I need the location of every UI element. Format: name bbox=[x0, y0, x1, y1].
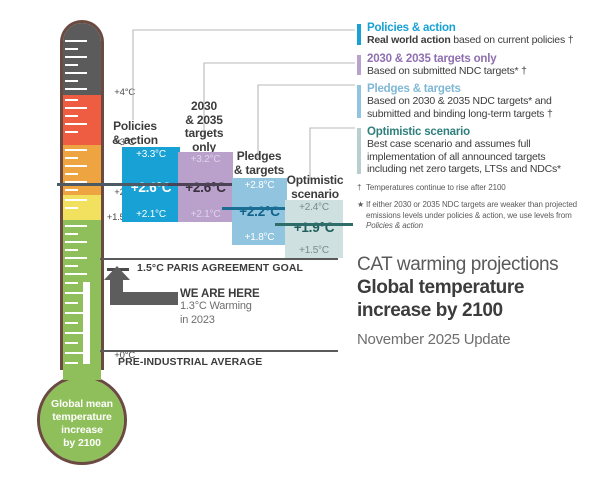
bulb-caption-line-3: increase bbox=[40, 424, 124, 437]
legend: Policies & action Real world action base… bbox=[357, 22, 595, 232]
bar-high-targets2030: +3.2°C bbox=[178, 154, 233, 165]
tick bbox=[65, 282, 78, 284]
footnote-dagger-marker: † bbox=[357, 183, 361, 194]
bulb-caption-line-1: Global mean bbox=[40, 398, 124, 411]
tick bbox=[65, 115, 78, 117]
bar-targets2030: +3.2°C +2.6°C +2.1°C bbox=[178, 152, 233, 222]
page-title-line3: increase by 2100 bbox=[357, 299, 597, 322]
pre-industrial-label: PRE-INDUSTRIAL AVERAGE bbox=[118, 356, 262, 368]
legend-title-policies: Policies & action bbox=[367, 22, 595, 34]
tick bbox=[65, 233, 78, 235]
tick bbox=[65, 332, 87, 334]
tick bbox=[65, 273, 87, 275]
bar-title-policies: Policies & action bbox=[108, 120, 162, 147]
tick bbox=[65, 257, 87, 259]
bar-title-optimistic: Optimistic scenario bbox=[281, 174, 349, 201]
tick bbox=[65, 157, 78, 159]
bulb-caption-line-2: temperature bbox=[40, 411, 124, 424]
legend-desc-rest: based on current policies † bbox=[451, 34, 574, 46]
we-are-here-heading: WE ARE HERE bbox=[180, 288, 260, 300]
tick bbox=[65, 249, 78, 251]
thermometer-neck-mask bbox=[63, 364, 101, 380]
tick bbox=[65, 322, 78, 324]
infographic-root: Global mean temperature increase by 2100… bbox=[0, 0, 600, 491]
bar-title-line: Policies bbox=[108, 120, 162, 134]
tick bbox=[65, 352, 87, 354]
footnote-star-text: If either 2030 or 2035 NDC targets are w… bbox=[366, 200, 577, 220]
bar-title-line: Pledges bbox=[229, 150, 289, 164]
footnote-dagger-text: Temperatures continue to rise after 2100 bbox=[366, 183, 506, 192]
bar-title-line: Optimistic bbox=[281, 174, 349, 188]
bar-high-policies: +3.3°C bbox=[122, 149, 180, 160]
title-block: CAT warming projections Global temperatu… bbox=[357, 253, 597, 348]
legend-desc-optimistic-line3: including net zero targets, LTSs and NDC… bbox=[367, 163, 595, 176]
pre-industrial-rule bbox=[100, 350, 338, 352]
legend-desc-pledges-line2: submitted and binding long-term targets … bbox=[367, 108, 595, 121]
tick bbox=[65, 225, 87, 227]
legend-swatch-pledges bbox=[357, 85, 361, 118]
legend-title-optimistic: Optimistic scenario bbox=[367, 126, 595, 138]
bar-title-line: scenario bbox=[281, 188, 349, 202]
footnote-star: ★If either 2030 or 2035 NDC targets are … bbox=[357, 200, 595, 232]
legend-desc-optimistic-line1: Best case scenario and assumes full bbox=[367, 138, 595, 151]
legend-desc-policies: Real world action based on current polic… bbox=[367, 34, 595, 47]
legend-desc-bold: Real world action bbox=[367, 34, 451, 46]
tick bbox=[65, 241, 87, 243]
footnote-star-marker: ★ bbox=[357, 200, 364, 211]
bar-title-line: 2030 bbox=[175, 100, 233, 114]
bar-high-optimistic: +2.4°C bbox=[285, 202, 343, 213]
tick bbox=[65, 199, 87, 201]
legend-title-pledges: Pledges & targets bbox=[367, 83, 595, 95]
tick bbox=[65, 72, 87, 74]
page-title-line1: CAT warming projections bbox=[357, 253, 597, 276]
tick bbox=[65, 123, 87, 125]
bar-title-pledges: Pledges & targets bbox=[229, 150, 289, 177]
legend-swatch-targets2030 bbox=[357, 55, 361, 76]
bar-title-targets2030: 2030 & 2035 targets only bbox=[175, 100, 233, 154]
bar-pledges: +2.8°C +2.2°C +1.8°C bbox=[232, 178, 287, 245]
we-are-here-arrowhead-icon bbox=[104, 266, 130, 282]
tick bbox=[65, 173, 78, 175]
tick bbox=[65, 88, 87, 90]
bar-midline-optimistic bbox=[275, 223, 353, 226]
footnote-dagger: †Temperatures continue to rise after 210… bbox=[357, 183, 595, 194]
tick bbox=[65, 165, 87, 167]
legend-swatch-policies bbox=[357, 24, 361, 45]
tick bbox=[65, 40, 87, 42]
footnote-star-italic: Policies & action bbox=[366, 221, 423, 230]
bar-low-optimistic: +1.5°C bbox=[285, 245, 343, 256]
mercury-column bbox=[83, 282, 90, 374]
bar-optimistic: +2.4°C +1.9°C +1.5°C bbox=[285, 200, 343, 258]
tick bbox=[65, 189, 78, 191]
tick bbox=[65, 342, 78, 344]
we-are-here-annotation: WE ARE HERE 1.3°C Warming in 2023 bbox=[180, 288, 260, 327]
tick bbox=[65, 80, 78, 82]
band-orange bbox=[63, 145, 101, 195]
bar-low-pledges: +1.8°C bbox=[232, 232, 287, 243]
page-title-line2: Global temperature bbox=[357, 276, 597, 299]
tick bbox=[65, 149, 87, 151]
bar-title-line: & action bbox=[108, 134, 162, 148]
band-grey bbox=[63, 23, 101, 95]
tick bbox=[65, 48, 78, 50]
paris-goal-rule bbox=[100, 258, 338, 260]
tick bbox=[65, 302, 78, 304]
bar-title-line: & 2035 bbox=[175, 114, 233, 128]
page-subtitle: November 2025 Update bbox=[357, 331, 597, 348]
band-red bbox=[63, 95, 101, 145]
bulb-caption-line-4: by 2100 bbox=[40, 437, 124, 450]
tick bbox=[65, 107, 87, 109]
legend-item-optimistic: Optimistic scenario Best case scenario a… bbox=[357, 126, 595, 176]
legend-title-targets2030: 2030 & 2035 targets only bbox=[367, 53, 595, 65]
we-are-here-line2: in 2023 bbox=[180, 314, 260, 328]
bar-title-line: targets bbox=[175, 127, 233, 141]
legend-item-pledges: Pledges & targets Based on 2030 & 2035 N… bbox=[357, 83, 595, 120]
paris-goal-label: 1.5°C PARIS AGREEMENT GOAL bbox=[137, 262, 303, 274]
tick bbox=[65, 292, 87, 294]
legend-desc-targets2030: Based on submitted NDC targets* † bbox=[367, 65, 595, 78]
legend-swatch-optimistic bbox=[357, 128, 361, 174]
legend-desc-pledges-line1: Based on 2030 & 2035 NDC targets* and bbox=[367, 95, 595, 108]
thermometer-tube bbox=[63, 23, 101, 383]
bar-high-pledges: +2.8°C bbox=[232, 180, 287, 191]
legend-item-targets2030: 2030 & 2035 targets only Based on submit… bbox=[357, 53, 595, 78]
we-are-here-line1: 1.3°C Warming bbox=[180, 300, 260, 314]
tick bbox=[65, 64, 78, 66]
bar-low-policies: +2.1°C bbox=[122, 209, 180, 220]
tick bbox=[65, 99, 78, 101]
bar-title-line: & targets bbox=[229, 164, 289, 178]
tick bbox=[65, 131, 78, 133]
bulb-caption: Global mean temperature increase by 2100 bbox=[40, 398, 124, 450]
tick bbox=[65, 56, 87, 58]
tick bbox=[65, 207, 78, 209]
tick bbox=[65, 265, 78, 267]
tick bbox=[65, 312, 87, 314]
bar-low-targets2030: +2.1°C bbox=[178, 209, 233, 220]
legend-desc-optimistic-line2: implementation of all announced targets bbox=[367, 151, 595, 164]
legend-item-policies: Policies & action Real world action base… bbox=[357, 22, 595, 47]
